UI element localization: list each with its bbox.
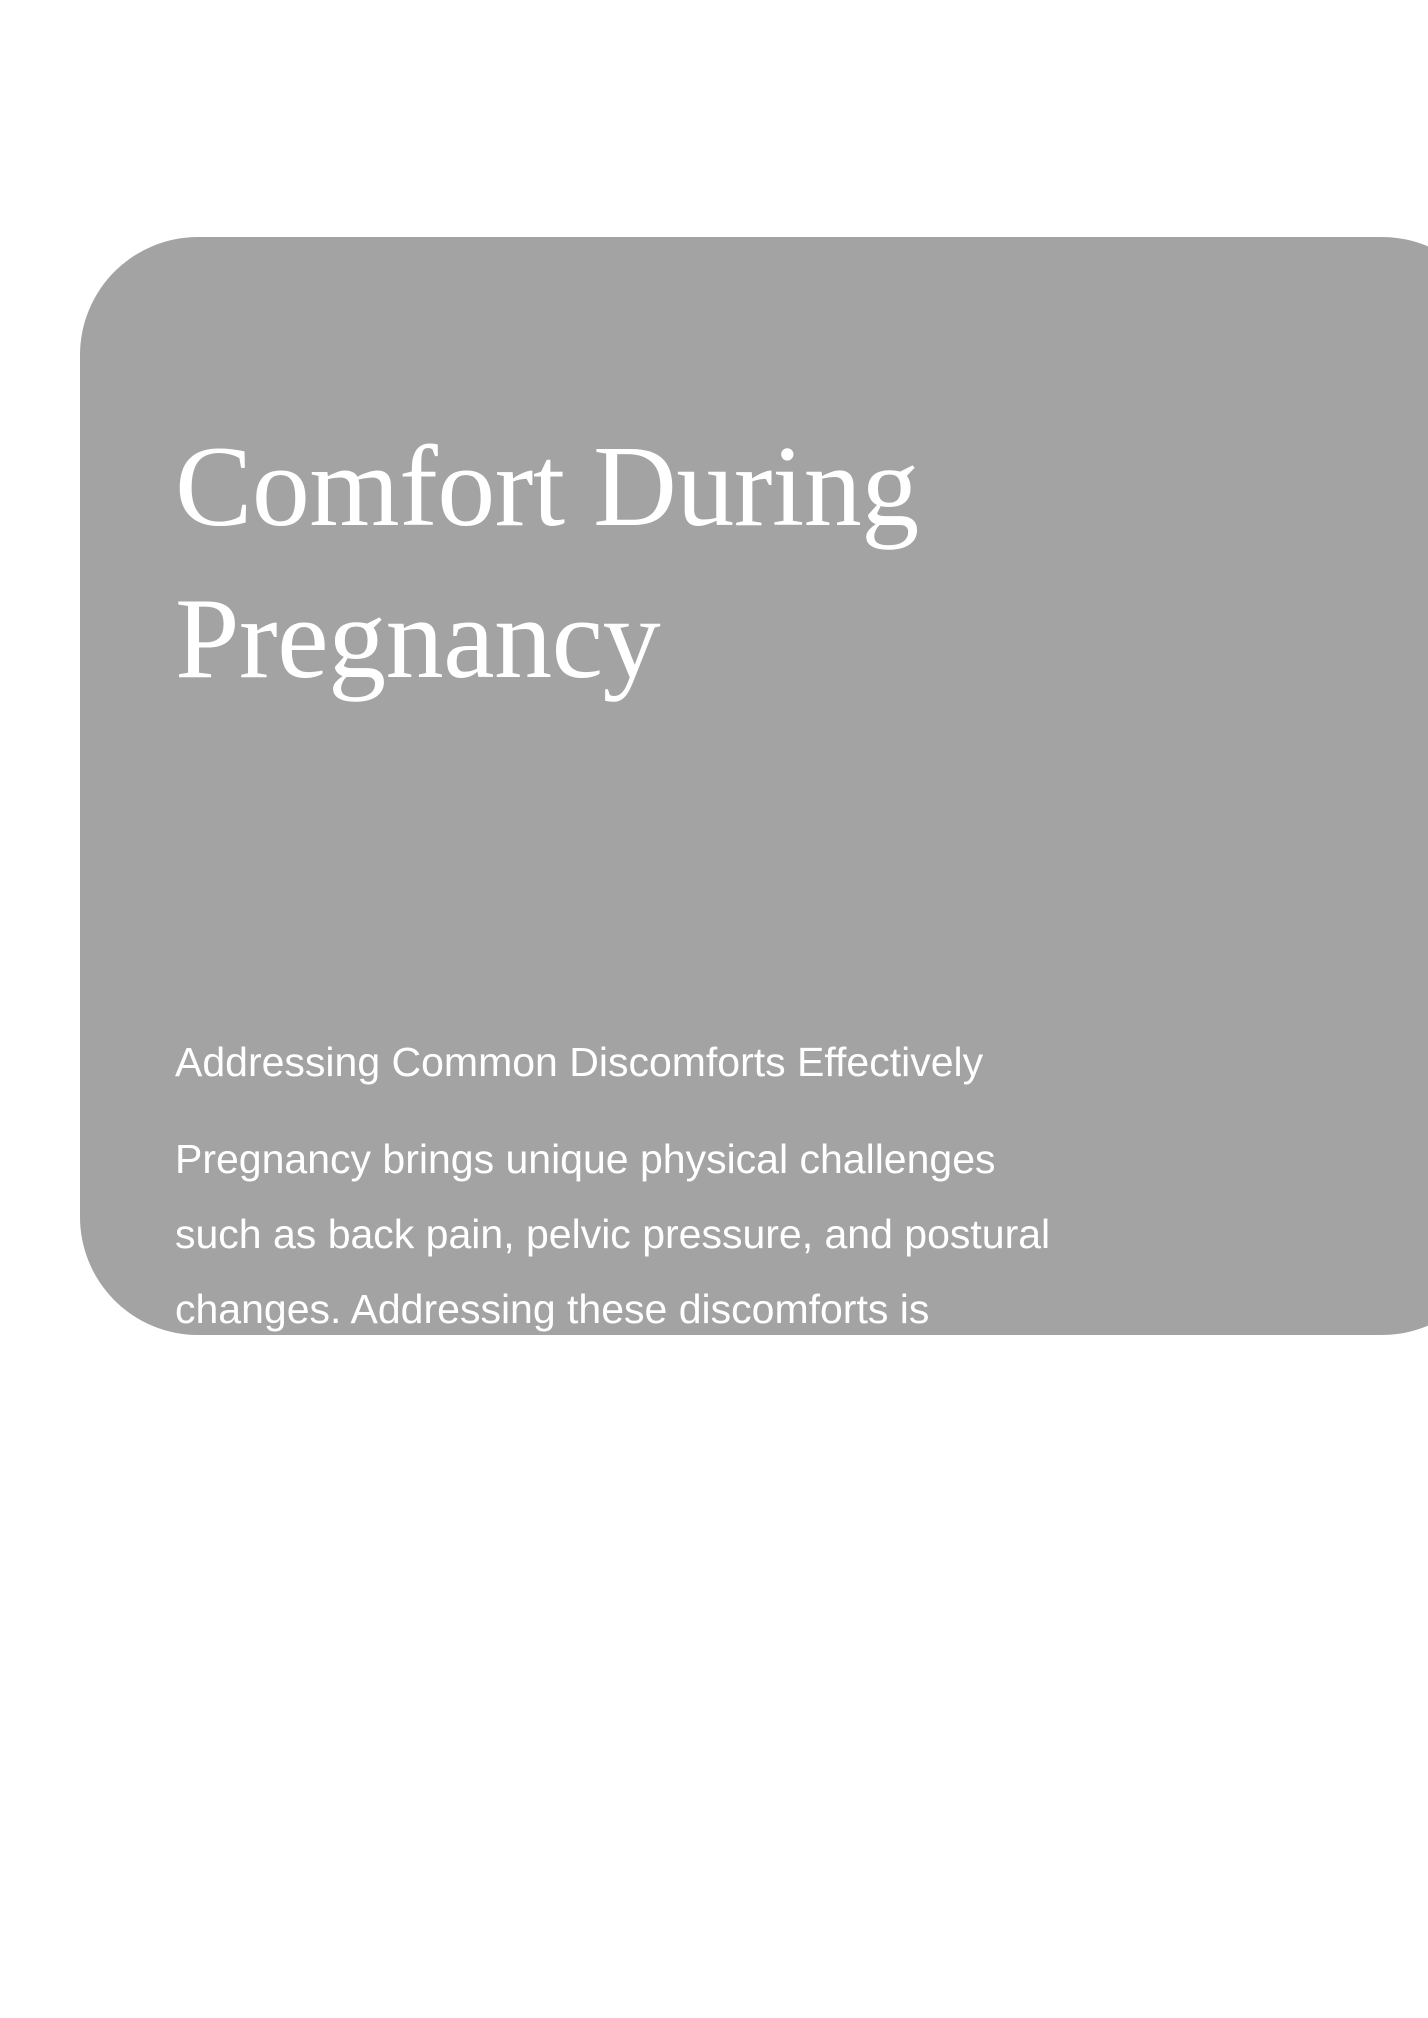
page-title: Comfort During Pregnancy [175,411,965,715]
hero-subtitle: Addressing Common Discomforts Effectivel… [175,1033,1355,1091]
slide-canvas: Comfort During Pregnancy Addressing Comm… [0,0,1428,2018]
hero-content-column: Comfort During Pregnancy Addressing Comm… [175,237,1375,1335]
hero-card: Comfort During Pregnancy Addressing Comm… [80,237,1428,1335]
hero-body-paragraph: Pregnancy brings unique physical challen… [175,1122,1080,1497]
